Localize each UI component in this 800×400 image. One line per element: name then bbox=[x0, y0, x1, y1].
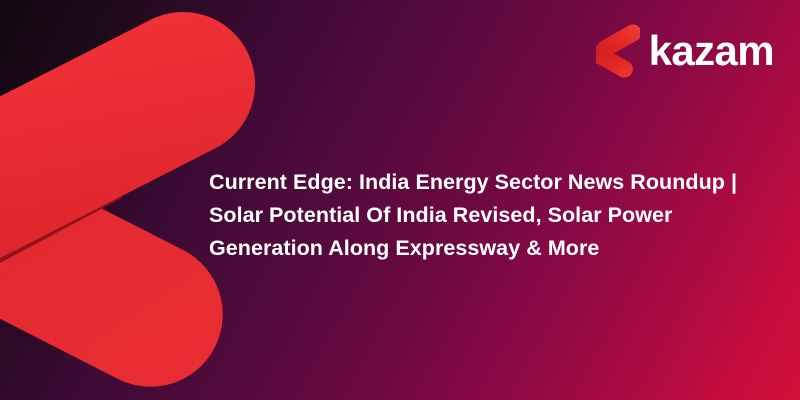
logo-upper-arm bbox=[597, 24, 639, 56]
kazam-wordmark: kazam bbox=[649, 30, 774, 72]
kazam-logo[interactable]: kazam bbox=[596, 24, 774, 78]
kazam-chevron-icon bbox=[596, 24, 640, 78]
article-hero-banner: kazam Current Edge: India Energy Sector … bbox=[0, 0, 800, 400]
chevron-shadow-line bbox=[0, 184, 122, 375]
chevron-lower-bar bbox=[0, 72, 223, 386]
article-headline: Current Edge: India Energy Sector News R… bbox=[209, 166, 775, 265]
